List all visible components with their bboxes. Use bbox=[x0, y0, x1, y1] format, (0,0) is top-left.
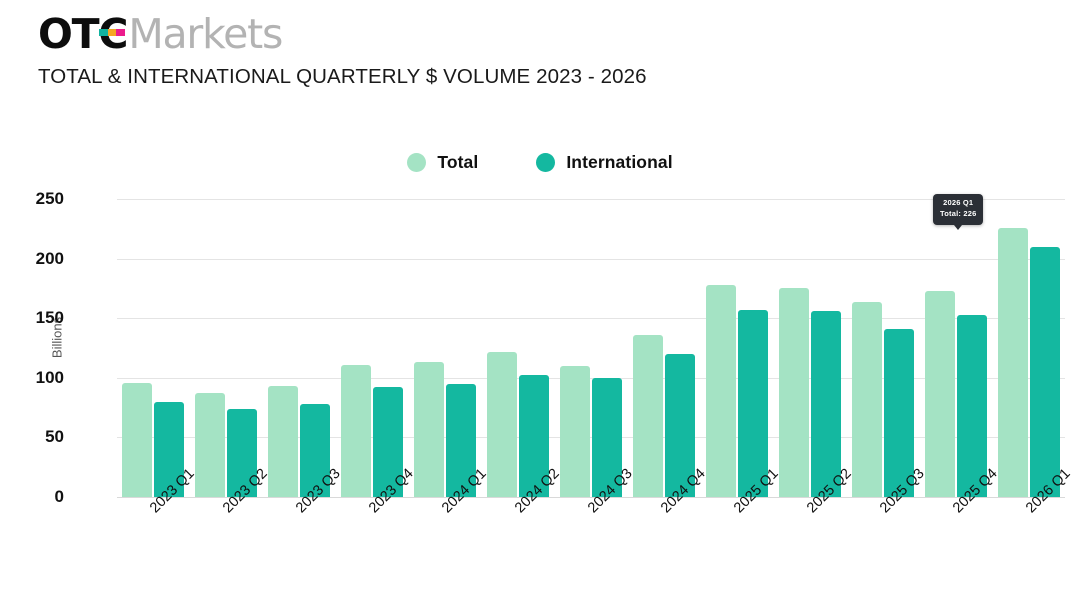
y-axis-tick-label: 250 bbox=[4, 189, 64, 209]
chart-tooltip: 2026 Q1 Total: 226 bbox=[933, 194, 983, 225]
y-axis-tick-label: 200 bbox=[4, 249, 64, 269]
bar-group: 2024 Q2 bbox=[482, 199, 555, 497]
bar-group: 2025 Q4 bbox=[919, 199, 992, 497]
y-axis-tick-label: 50 bbox=[4, 427, 64, 447]
bar-group: 2025 Q3 bbox=[846, 199, 919, 497]
bar-group: 2024 Q4 bbox=[627, 199, 700, 497]
bar-total[interactable] bbox=[560, 366, 590, 497]
bar-total[interactable] bbox=[706, 285, 736, 497]
tooltip-title: 2026 Q1 bbox=[940, 198, 976, 209]
bar-group: 2025 Q2 bbox=[773, 199, 846, 497]
bar-total[interactable] bbox=[925, 291, 955, 497]
bar-international[interactable] bbox=[811, 311, 841, 497]
bar-total[interactable] bbox=[195, 393, 225, 497]
y-axis-tick-label: 100 bbox=[4, 368, 64, 388]
y-axis-tick-label: 0 bbox=[4, 487, 64, 507]
tooltip-value: Total: 226 bbox=[940, 209, 976, 220]
y-axis-tick-label: 150 bbox=[4, 308, 64, 328]
bar-total[interactable] bbox=[341, 365, 371, 497]
bar-group: 2023 Q3 bbox=[263, 199, 336, 497]
bar-total[interactable] bbox=[268, 386, 298, 497]
bar-total[interactable] bbox=[852, 302, 882, 497]
bar-international[interactable] bbox=[738, 310, 768, 497]
bar-total[interactable] bbox=[779, 288, 809, 497]
bar-international[interactable] bbox=[957, 315, 987, 497]
bar-total[interactable] bbox=[633, 335, 663, 497]
bar-group: 2023 Q1 bbox=[117, 199, 190, 497]
bar-group: 2026 Q1 bbox=[992, 199, 1065, 497]
bar-groups: 2023 Q12023 Q22023 Q32023 Q42024 Q12024 … bbox=[117, 199, 1065, 497]
bar-total[interactable] bbox=[414, 362, 444, 497]
bar-group: 2023 Q2 bbox=[190, 199, 263, 497]
logo-color-dash-icon bbox=[99, 29, 125, 36]
bar-group: 2024 Q1 bbox=[409, 199, 482, 497]
bar-group: 2023 Q4 bbox=[336, 199, 409, 497]
bar-total[interactable] bbox=[998, 228, 1028, 497]
bar-chart-plot: Billions 050100150200250 2023 Q12023 Q22… bbox=[0, 0, 1080, 607]
bar-international[interactable] bbox=[1030, 247, 1060, 497]
bar-group: 2024 Q3 bbox=[555, 199, 628, 497]
bar-group: 2025 Q1 bbox=[700, 199, 773, 497]
bar-total[interactable] bbox=[122, 383, 152, 497]
bar-total[interactable] bbox=[487, 352, 517, 497]
